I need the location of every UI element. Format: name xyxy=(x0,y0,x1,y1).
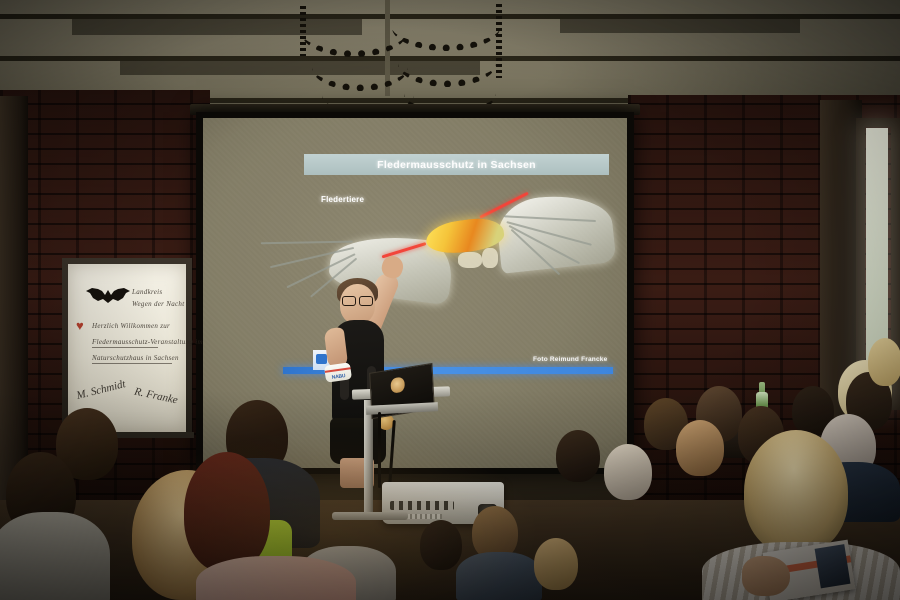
presentation-room-photo: Fledermausschutz in Sachsen Fledertiere … xyxy=(0,0,900,600)
hanging-coiled-cables xyxy=(300,0,500,105)
flipchart-signature-right: R. Franke xyxy=(133,386,179,407)
flipchart-signature-left: M. Schmidt xyxy=(75,378,127,402)
audience-head xyxy=(556,430,600,482)
cable-laptop xyxy=(378,412,381,488)
projector-ports xyxy=(390,501,454,510)
bat-tail-membrane xyxy=(458,252,482,268)
flipchart-paper: Landkreis Wegen der Nacht ♥ Herzlich Wil… xyxy=(68,264,186,432)
slide-title-bar: Fledermausschutz in Sachsen xyxy=(304,154,609,175)
bat-wing-right xyxy=(495,190,617,274)
armband-text: NABU xyxy=(331,373,345,381)
flipchart-line-2: Fledermausschutz-Veranstaltung im xyxy=(92,338,203,346)
presenter-glasses xyxy=(342,296,373,304)
audience-hand xyxy=(742,556,790,596)
av-cart-base xyxy=(332,512,408,520)
flipchart-heading: Landkreis xyxy=(132,288,162,296)
audience-head xyxy=(604,444,652,500)
bat-foot xyxy=(482,248,498,268)
audience-head-child xyxy=(420,520,462,570)
audience-shoulders xyxy=(196,556,356,600)
flipchart-line-3: Naturschutzhaus in Sachsen xyxy=(92,354,179,362)
laptop-sticker xyxy=(390,376,405,393)
audience-head xyxy=(868,338,900,386)
heart-icon: ♥ xyxy=(76,320,89,332)
flipchart-heading2: Wegen der Nacht xyxy=(132,300,184,308)
slide-title: Fledermausschutz in Sachsen xyxy=(377,159,536,171)
audience-head xyxy=(676,420,724,476)
audience-shoulders xyxy=(456,552,542,600)
audience-head xyxy=(184,452,270,572)
audience-head-child xyxy=(534,538,578,590)
bat-silhouette-icon xyxy=(84,286,132,308)
presenter-armband: NABU xyxy=(324,362,352,382)
flipchart-line-1: Herzlich Willkommen zur xyxy=(92,322,170,330)
audience-shoulders xyxy=(0,512,110,600)
slide-photo-credit: Foto Reimund Francke xyxy=(533,356,607,363)
audience-head xyxy=(744,430,848,554)
